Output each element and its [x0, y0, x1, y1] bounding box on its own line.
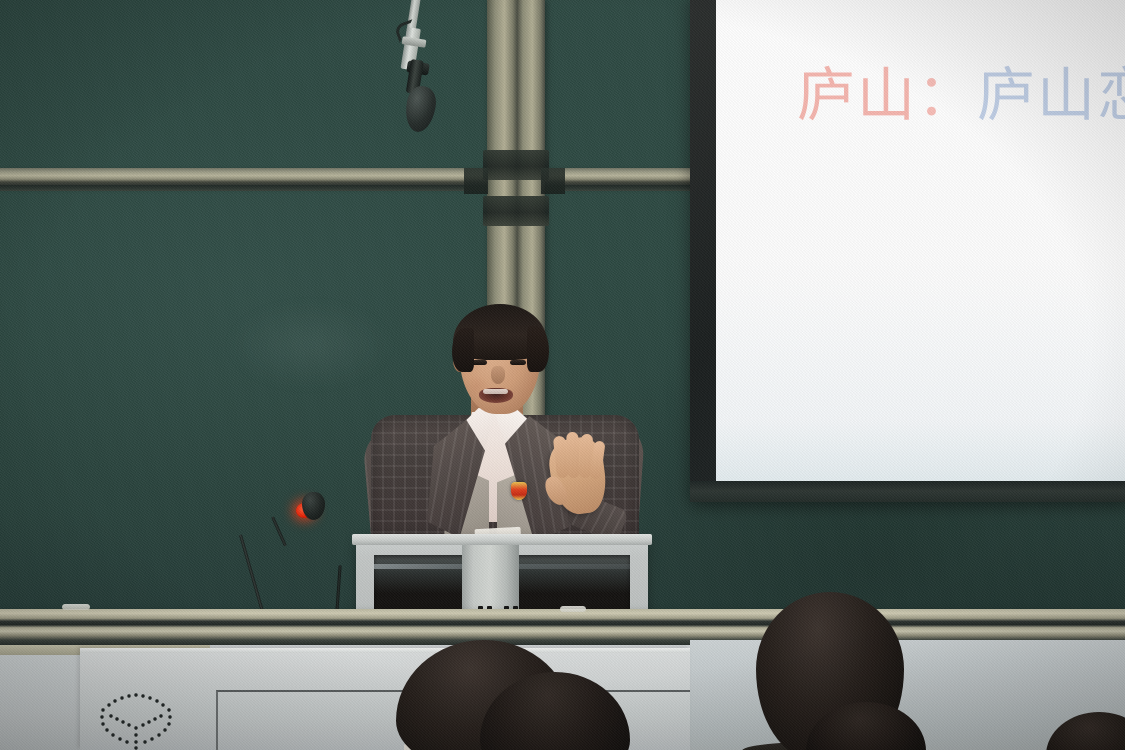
board-track-clamp-upper [483, 150, 549, 180]
slide-text-blue: 庐山恋 [977, 61, 1125, 129]
lecture-counter-top-edge [80, 648, 690, 653]
rail-bracket-right [541, 168, 565, 194]
slide-text-red: 庐山 [797, 61, 917, 129]
projection-screen-bottom-bar [690, 481, 1125, 502]
slide-title-text: 庐山：庐山恋 [797, 66, 1125, 124]
podium-top-ledge [352, 534, 652, 545]
board-track-clamp-lower [483, 196, 549, 226]
speaker-hair-right [527, 326, 549, 372]
chalk-piece-left [62, 604, 90, 610]
classroom-photo-scene: 庐山：庐山恋 [0, 0, 1125, 750]
desk-emblem-icon [97, 692, 175, 750]
chalk-piece-center [560, 606, 586, 612]
slide-text-separator: ： [917, 61, 977, 129]
speaker-finger-middle [566, 432, 580, 478]
speaker-figure [355, 300, 655, 550]
speaker-lapel-pin-icon [511, 482, 527, 500]
rail-bracket-left [464, 168, 488, 194]
speaker-eye-right [510, 360, 526, 365]
speaker-hair-left [452, 328, 474, 372]
speaker-nose [491, 366, 505, 384]
speaker-teeth [483, 389, 508, 394]
desk-left-panel [0, 655, 80, 750]
